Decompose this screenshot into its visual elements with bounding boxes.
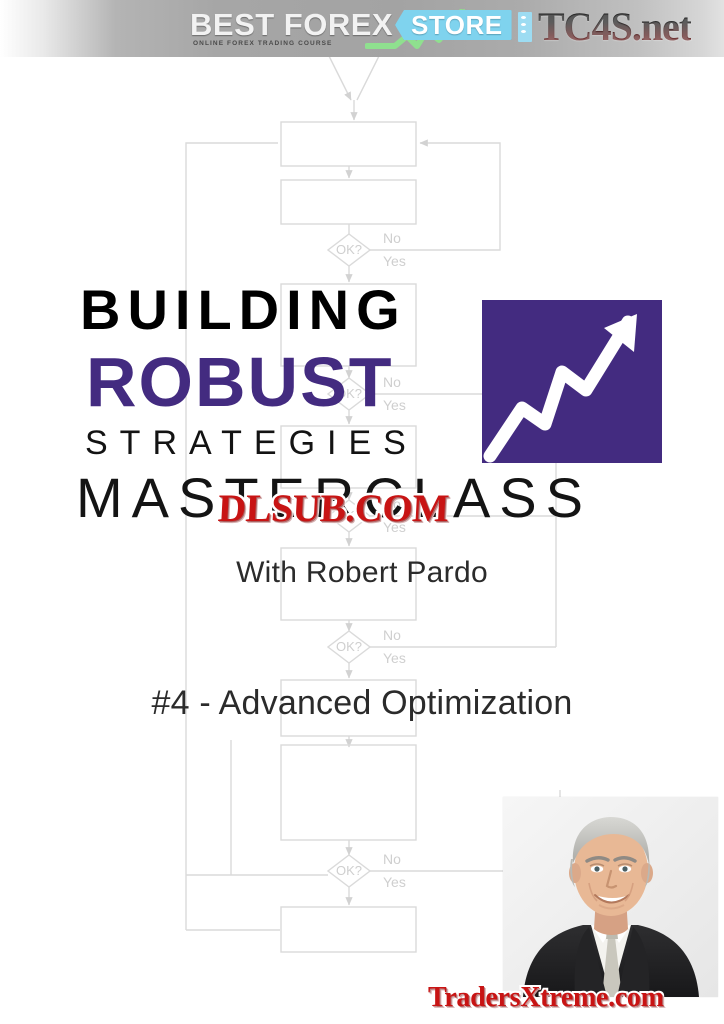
tc4s-logo-text: TC4S.net xyxy=(538,7,691,47)
watermark-center: DLSUB.COM xyxy=(217,486,450,531)
brand-subtitle-text: ONLINE FOREX TRADING COURSE xyxy=(193,40,332,47)
site-header-banner: BEST FOREX ONLINE FOREX TRADING COURSE S… xyxy=(0,0,724,57)
brand-logo-mark xyxy=(482,300,662,463)
brand-store-text: STORE xyxy=(411,10,503,41)
flow-branch-no: No xyxy=(383,627,401,643)
tc4s-mark-icon xyxy=(518,12,532,42)
best-forex-store-logo[interactable]: BEST FOREX ONLINE FOREX TRADING COURSE S… xyxy=(190,6,510,52)
presenter-credit: With Robert Pardo xyxy=(0,556,724,590)
presenter-portrait-photo xyxy=(503,797,718,997)
flow-branch-no: No xyxy=(383,851,401,867)
module-title: #4 - Advanced Optimization xyxy=(0,684,724,723)
flow-branch-no: No xyxy=(383,230,401,246)
title-line-strategies: STRATEGIES xyxy=(85,426,418,460)
flow-branch-yes: Yes xyxy=(383,874,406,890)
watermark-bottom: TradersXtreme.com xyxy=(428,982,664,1014)
flow-branch-yes: Yes xyxy=(383,650,406,666)
brand-store-tag: STORE xyxy=(395,10,512,40)
title-line-building: BUILDING xyxy=(80,282,407,338)
cover-page: OK? OK? OK? OK? OK? No Yes No Yes No Yes… xyxy=(0,0,724,1024)
flow-decision-label: OK? xyxy=(336,639,362,654)
brand-primary-text: BEST FOREX xyxy=(190,7,393,43)
tc4s-site-logo[interactable]: TC4S.net xyxy=(518,3,691,51)
flow-decision-label: OK? xyxy=(336,242,362,257)
flow-branch-yes: Yes xyxy=(383,253,406,269)
title-line-robust: ROBUST xyxy=(86,347,394,417)
flow-decision-label: OK? xyxy=(336,863,362,878)
